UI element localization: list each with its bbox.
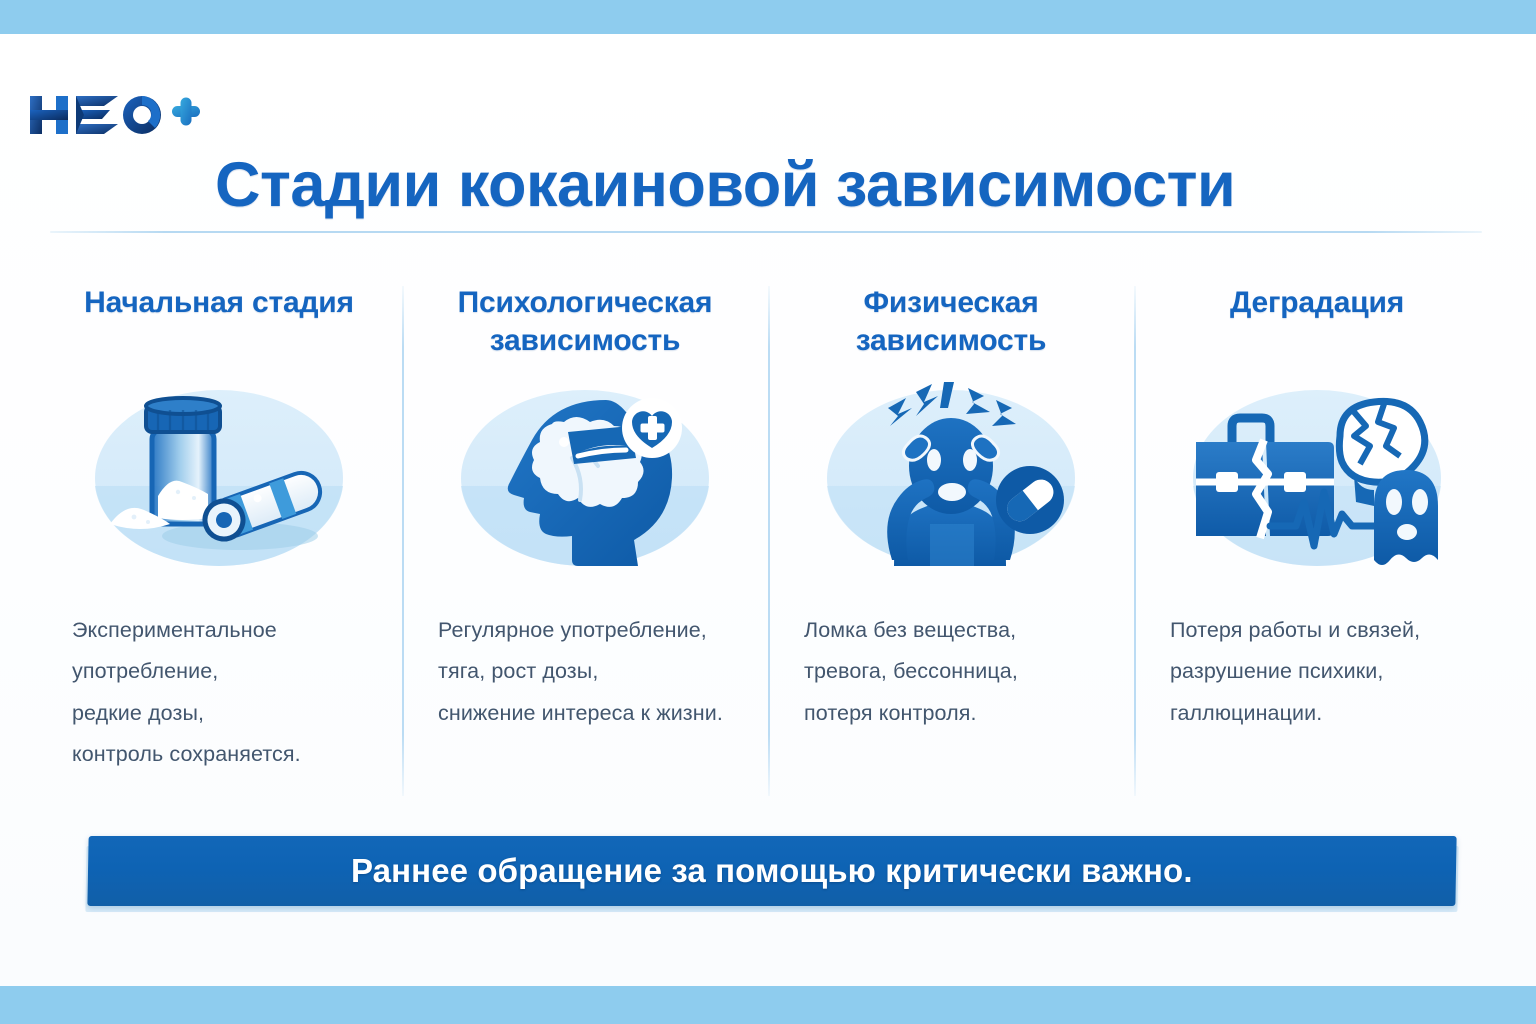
neo-plus-logo <box>24 86 204 152</box>
stage-1-line-2: употребление, <box>72 651 388 692</box>
stage-1-line-4: контроль сохраняется. <box>72 734 388 775</box>
stage-2-line-2: тяга, рост дозы, <box>438 651 754 692</box>
header-divider <box>50 231 1482 233</box>
distressed-person-with-pill-icon <box>822 374 1080 582</box>
broken-briefcase-brain-ghost-icon <box>1188 374 1446 582</box>
stage-4-body: Потеря работы и связей, разрушение психи… <box>1148 610 1486 734</box>
content-stage: Стадии кокаиновой зависимости Начальная … <box>0 34 1536 986</box>
stage-4-heading: Деградация <box>1230 284 1404 368</box>
top-accent-band <box>0 0 1536 34</box>
page-title: Стадии кокаиновой зависимости <box>215 154 1335 217</box>
stage-4-line-2: разрушение психики, <box>1170 651 1486 692</box>
bottom-accent-band <box>0 986 1536 1024</box>
call-to-action-banner: Раннее обращение за помощью критически в… <box>87 836 1456 906</box>
stage-column-1: Начальная стадия <box>36 284 402 804</box>
powder-jar-and-rolled-note-icon <box>90 374 348 582</box>
stage-columns: Начальная стадия <box>36 284 1500 804</box>
stage-1-body: Экспериментальное употребление, редкие д… <box>50 610 388 775</box>
stage-3-line-3: потеря контроля. <box>804 693 1120 734</box>
stage-column-2: Психологическая зависимость <box>402 284 768 804</box>
stage-4-line-1: Потеря работы и связей, <box>1170 610 1486 651</box>
stage-3-line-1: Ломка без вещества, <box>804 610 1120 651</box>
stage-3-line-2: тревога, бессонница, <box>804 651 1120 692</box>
stage-3-body: Ломка без вещества, тревога, бессонница,… <box>782 610 1120 734</box>
stage-2-body: Регулярное употребление, тяга, рост дозы… <box>416 610 754 734</box>
stage-2-line-3: снижение интереса к жизни. <box>438 693 754 734</box>
stage-column-3: Физическая зависимость <box>768 284 1134 804</box>
stage-1-heading: Начальная стадия <box>84 284 354 368</box>
stage-column-4: Деградация <box>1134 284 1500 804</box>
stage-2-line-1: Регулярное употребление, <box>438 610 754 651</box>
stage-1-line-3: редкие дозы, <box>72 693 388 734</box>
poster-root: Стадии кокаиновой зависимости Начальная … <box>0 0 1536 1024</box>
banner-text: Раннее обращение за помощью критически в… <box>351 852 1193 890</box>
stage-1-line-1: Экспериментальное <box>72 610 388 651</box>
stage-2-heading: Психологическая зависимость <box>416 284 754 368</box>
stage-3-heading: Физическая зависимость <box>782 284 1120 368</box>
head-brain-with-heart-plus-icon <box>456 374 714 582</box>
stage-4-line-3: галлюцинации. <box>1170 693 1486 734</box>
